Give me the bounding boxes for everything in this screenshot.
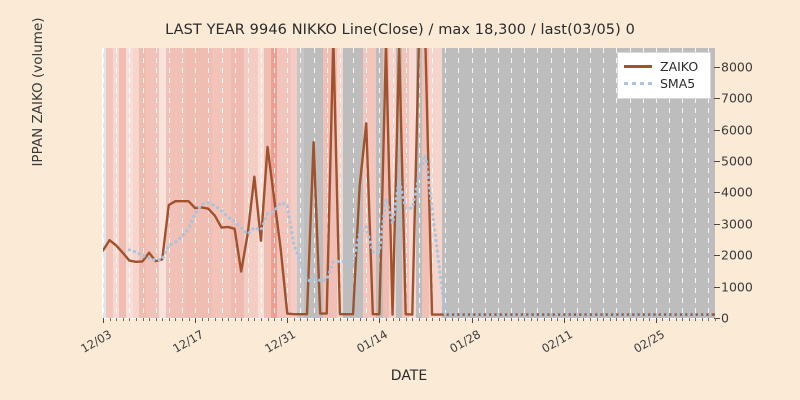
x-minor-tick [222, 318, 223, 321]
y-axis-label: IPPAN ZAIKO (volume) [30, 0, 46, 192]
x-minor-tick [498, 318, 499, 321]
x-minor-tick [518, 318, 519, 321]
x-minor-tick [360, 318, 361, 321]
x-minor-tick [583, 318, 584, 321]
x-tick-label: 01/14 [350, 327, 390, 358]
chart-figure: LAST YEAR 9946 NIKKO Line(Close) / max 1… [0, 0, 800, 400]
x-minor-tick [281, 318, 282, 321]
axis-spine-left [102, 48, 103, 319]
x-minor-tick [353, 318, 354, 321]
x-minor-tick [616, 318, 617, 321]
legend-swatch-sma5 [624, 82, 652, 85]
x-minor-tick [110, 318, 111, 321]
y-tick-label: 0 [721, 311, 729, 326]
x-minor-tick [327, 318, 328, 321]
legend-swatch-zaiko [624, 65, 652, 69]
x-minor-tick [399, 318, 400, 321]
x-minor-tick [393, 318, 394, 321]
x-minor-tick [261, 318, 262, 321]
x-tick-mark [379, 318, 380, 323]
x-minor-tick [524, 318, 525, 321]
series-line-sma5 [129, 155, 715, 315]
x-tick-label: 12/03 [74, 327, 114, 358]
x-minor-tick [570, 318, 571, 321]
x-minor-tick [590, 318, 591, 321]
x-minor-tick [702, 318, 703, 321]
x-minor-tick [491, 318, 492, 321]
x-minor-tick [228, 318, 229, 321]
x-minor-tick [248, 318, 249, 321]
x-minor-tick [268, 318, 269, 321]
x-minor-tick [636, 318, 637, 321]
chart-title: LAST YEAR 9946 NIKKO Line(Close) / max 1… [0, 22, 800, 38]
y-tick-label: 1000 [721, 279, 753, 294]
x-minor-tick [175, 318, 176, 321]
legend-item-sma5[interactable]: SMA5 [624, 75, 704, 92]
y-tick-mark [714, 67, 720, 68]
y-tick-mark [714, 98, 720, 99]
x-minor-tick [439, 318, 440, 321]
x-minor-tick [669, 318, 670, 321]
x-minor-tick [597, 318, 598, 321]
x-minor-tick [215, 318, 216, 321]
x-minor-tick [254, 318, 255, 321]
x-minor-tick [116, 318, 117, 321]
legend-label-zaiko: ZAIKO [660, 59, 698, 74]
x-minor-tick [531, 318, 532, 321]
x-minor-tick [426, 318, 427, 321]
x-minor-tick [274, 318, 275, 321]
x-minor-tick [412, 318, 413, 321]
x-minor-tick [340, 318, 341, 321]
legend-label-sma5: SMA5 [660, 76, 695, 91]
x-minor-tick [235, 318, 236, 321]
x-minor-tick [478, 318, 479, 321]
x-minor-tick [129, 318, 130, 321]
x-minor-tick [504, 318, 505, 321]
y-tick-label: 4000 [721, 185, 753, 200]
x-minor-tick [452, 318, 453, 321]
y-tick-mark [714, 192, 720, 193]
x-minor-tick [143, 318, 144, 321]
x-minor-tick [544, 318, 545, 321]
x-minor-tick [623, 318, 624, 321]
x-minor-tick [294, 318, 295, 321]
x-minor-tick [406, 318, 407, 321]
x-minor-tick [511, 318, 512, 321]
x-minor-tick [458, 318, 459, 321]
x-minor-tick [314, 318, 315, 321]
x-minor-tick [643, 318, 644, 321]
x-tick-mark [287, 318, 288, 323]
x-tick-label: 12/31 [258, 327, 298, 358]
x-minor-tick [577, 318, 578, 321]
x-minor-tick [320, 318, 321, 321]
x-minor-tick [445, 318, 446, 321]
x-minor-tick [208, 318, 209, 321]
x-minor-tick [465, 318, 466, 321]
x-minor-tick [432, 318, 433, 321]
y-tick-label: 6000 [721, 122, 753, 137]
x-minor-tick [149, 318, 150, 321]
x-minor-tick [156, 318, 157, 321]
x-minor-tick [551, 318, 552, 321]
x-tick-mark [472, 318, 473, 323]
x-minor-tick [708, 318, 709, 321]
x-minor-tick [676, 318, 677, 321]
x-axis-label: DATE [103, 368, 715, 384]
legend-item-zaiko[interactable]: ZAIKO [624, 58, 704, 75]
x-minor-tick [169, 318, 170, 321]
x-minor-tick [189, 318, 190, 321]
y-tick-label: 2000 [721, 248, 753, 263]
x-minor-tick [123, 318, 124, 321]
y-tick-mark [714, 255, 720, 256]
y-tick-label: 8000 [721, 59, 753, 74]
x-minor-tick [630, 318, 631, 321]
x-tick-label: 02/25 [627, 327, 667, 358]
x-minor-tick [202, 318, 203, 321]
x-minor-tick [689, 318, 690, 321]
x-minor-tick [662, 318, 663, 321]
y-tick-mark [714, 161, 720, 162]
x-minor-tick [649, 318, 650, 321]
x-minor-tick [386, 318, 387, 321]
x-minor-tick [485, 318, 486, 321]
y-tick-mark [714, 130, 720, 131]
x-tick-label: 02/11 [535, 327, 575, 358]
axis-spine-bottom [102, 318, 716, 319]
x-tick-mark [195, 318, 196, 323]
x-minor-tick [557, 318, 558, 321]
x-tick-label: 12/17 [166, 327, 206, 358]
x-minor-tick [241, 318, 242, 321]
y-tick-label: 5000 [721, 154, 753, 169]
x-minor-tick [610, 318, 611, 321]
x-tick-mark [564, 318, 565, 323]
y-tick-label: 3000 [721, 216, 753, 231]
x-minor-tick [682, 318, 683, 321]
x-minor-tick [162, 318, 163, 321]
x-tick-mark [103, 318, 104, 323]
x-minor-tick [307, 318, 308, 321]
y-tick-mark [714, 287, 720, 288]
x-minor-tick [603, 318, 604, 321]
x-minor-tick [537, 318, 538, 321]
y-tick-label: 7000 [721, 91, 753, 106]
x-minor-tick [373, 318, 374, 321]
x-tick-mark [656, 318, 657, 323]
x-minor-tick [300, 318, 301, 321]
x-minor-tick [366, 318, 367, 321]
x-minor-tick [136, 318, 137, 321]
chart-legend[interactable]: ZAIKO SMA5 [617, 52, 711, 99]
x-tick-label: 01/28 [443, 327, 483, 358]
x-minor-tick [182, 318, 183, 321]
x-minor-tick [715, 318, 716, 321]
x-minor-tick [347, 318, 348, 321]
x-minor-tick [419, 318, 420, 321]
x-minor-tick [333, 318, 334, 321]
x-minor-tick [695, 318, 696, 321]
y-tick-mark [714, 224, 720, 225]
